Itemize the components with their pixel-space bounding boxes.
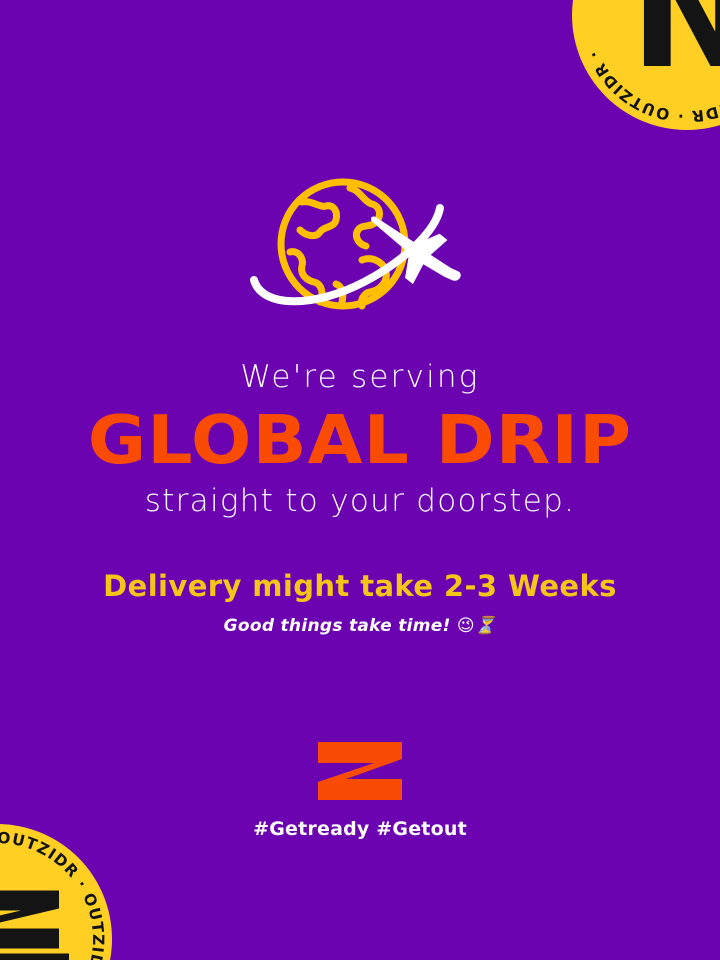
brand-badge-bottom-left: OUTZIDR · OUTZIDR · OUTZIDR · OUTZIDR · …	[0, 824, 112, 960]
badge-letter: N	[630, 0, 720, 90]
globe-airplane-illustration	[0, 168, 720, 338]
globe-icon	[240, 168, 480, 338]
badge-core: OUTZIDR	[0, 889, 73, 960]
subheadline-text: straight to your doorstep.	[24, 484, 696, 518]
badge-wordmark: OUTZIDR	[0, 954, 69, 960]
delivery-note: Good things take time! 😉⏳	[24, 617, 696, 636]
hashtags-text: #Getready #Getout	[253, 818, 467, 840]
brand-lockup: #Getready #Getout	[0, 742, 720, 840]
z-logo-icon	[0, 889, 61, 951]
eyebrow-text: We're serving	[24, 360, 696, 394]
z-logo-icon	[318, 742, 402, 800]
brand-badge-top-right: OUTZIDR · OUTZIDR · OUTZIDR · OUTZIDR · …	[572, 0, 720, 130]
page-title: GLOBAL DRIP	[4, 406, 716, 474]
delivery-estimate: Delivery might take 2-3 Weeks	[24, 571, 696, 603]
poster-copy: We're serving GLOBAL DRIP straight to yo…	[0, 360, 720, 636]
promo-poster: OUTZIDR · OUTZIDR · OUTZIDR · OUTZIDR · …	[0, 0, 720, 960]
